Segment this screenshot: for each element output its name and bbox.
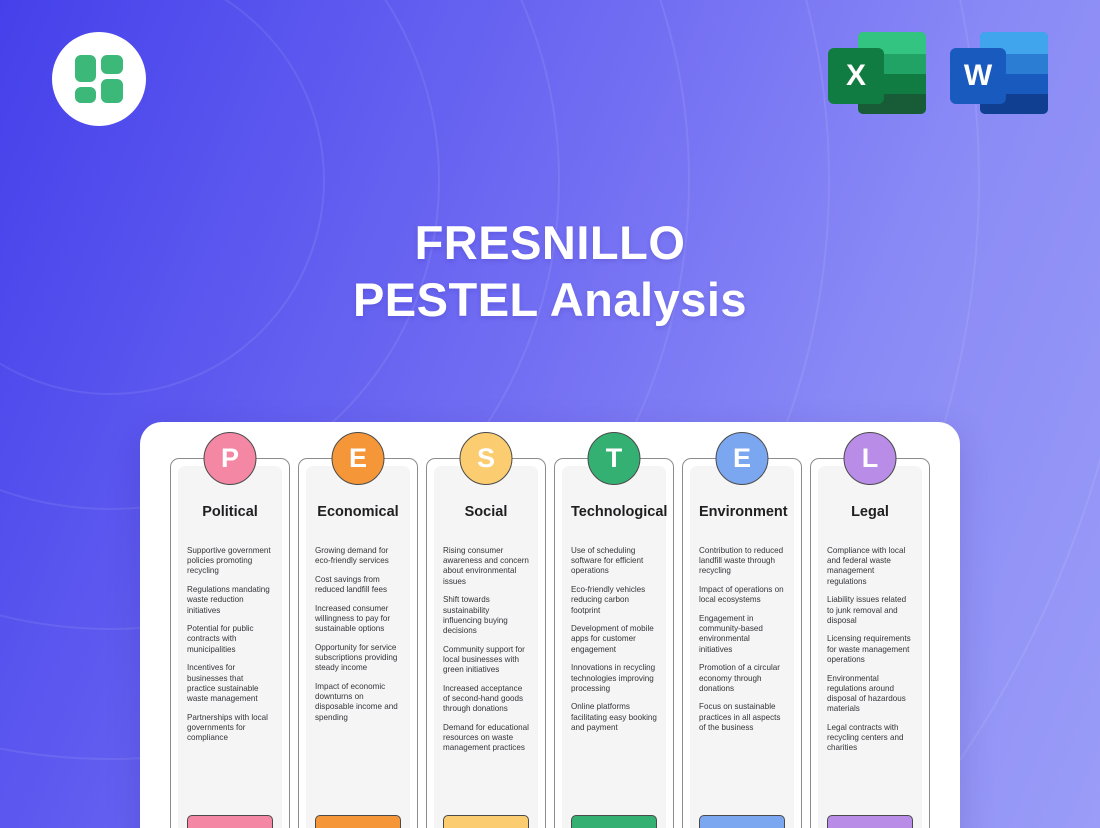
list-item: Promotion of a circular economy through …	[699, 663, 785, 694]
list-item: Innovations in recycling technologies im…	[571, 663, 657, 694]
list-item: Increased acceptance of second-hand good…	[443, 684, 529, 715]
list-item: Opportunity for service subscriptions pr…	[315, 643, 401, 674]
pestel-card: PPoliticalSupportive government policies…	[140, 422, 960, 828]
column-body-environment: EnvironmentContribution to reduced landf…	[690, 466, 794, 828]
column-title-technological: Technological	[571, 504, 657, 520]
letter-badge-environment: E	[716, 432, 769, 485]
list-item: Cost savings from reduced landfill fees	[315, 575, 401, 595]
column-title-political: Political	[187, 504, 273, 520]
list-item: Compliance with local and federal waste …	[827, 546, 913, 587]
pestel-columns: PPoliticalSupportive government policies…	[170, 422, 930, 828]
excel-icon[interactable]: X	[828, 28, 926, 118]
column-items-political: Supportive government policies promoting…	[187, 546, 273, 815]
pestel-column-social[interactable]: SSocialRising consumer awareness and con…	[426, 458, 546, 828]
list-item: Eco-friendly vehicles reducing carbon fo…	[571, 585, 657, 616]
poster-canvas: X W FRESNILLO PESTEL Analysis PPolitical…	[0, 0, 1100, 828]
list-item: Online platforms facilitating easy booki…	[571, 702, 657, 733]
word-badge-letter: W	[950, 48, 1006, 104]
page-title: FRESNILLO PESTEL Analysis	[0, 214, 1100, 329]
column-color-bar-environment	[699, 815, 785, 828]
column-title-environment: Environment	[699, 504, 785, 520]
list-item: Development of mobile apps for customer …	[571, 624, 657, 655]
pestel-column-technological[interactable]: TTechnologicalUse of scheduling software…	[554, 458, 674, 828]
column-title-economical: Economical	[315, 504, 401, 520]
column-title-legal: Legal	[827, 504, 913, 520]
list-item: Engagement in community-based environmen…	[699, 614, 785, 655]
excel-badge-letter: X	[828, 48, 884, 104]
list-item: Community support for local businesses w…	[443, 645, 529, 676]
list-item: Impact of economic downturns on disposab…	[315, 682, 401, 723]
list-item: Licensing requirements for waste managem…	[827, 634, 913, 665]
list-item: Liability issues related to junk removal…	[827, 595, 913, 626]
column-items-technological: Use of scheduling software for efficient…	[571, 546, 657, 815]
list-item: Legal contracts with recycling centers a…	[827, 723, 913, 754]
brand-logo[interactable]	[52, 32, 146, 126]
column-body-political: PoliticalSupportive government policies …	[178, 466, 282, 828]
column-body-social: SocialRising consumer awareness and conc…	[434, 466, 538, 828]
letter-badge-legal: L	[844, 432, 897, 485]
column-color-bar-technological	[571, 815, 657, 828]
pestel-column-environment[interactable]: EEnvironmentContribution to reduced land…	[682, 458, 802, 828]
list-item: Focus on sustainable practices in all as…	[699, 702, 785, 733]
list-item: Demand for educational resources on wast…	[443, 723, 529, 754]
letter-badge-technological: T	[588, 432, 641, 485]
column-color-bar-political	[187, 815, 273, 828]
column-body-technological: TechnologicalUse of scheduling software …	[562, 466, 666, 828]
letter-badge-social: S	[460, 432, 513, 485]
list-item: Use of scheduling software for efficient…	[571, 546, 657, 577]
list-item: Increased consumer willingness to pay fo…	[315, 604, 401, 635]
title-company: FRESNILLO	[0, 214, 1100, 271]
grid-squares-logo-icon	[73, 53, 125, 105]
list-item: Supportive government policies promoting…	[187, 546, 273, 577]
list-item: Environmental regulations around disposa…	[827, 674, 913, 715]
column-color-bar-legal	[827, 815, 913, 828]
list-item: Incentives for businesses that practice …	[187, 663, 273, 704]
ring-1	[0, 0, 325, 395]
letter-badge-economical: E	[332, 432, 385, 485]
column-items-social: Rising consumer awareness and concern ab…	[443, 546, 529, 815]
column-items-legal: Compliance with local and federal waste …	[827, 546, 913, 815]
column-items-environment: Contribution to reduced landfill waste t…	[699, 546, 785, 815]
word-icon[interactable]: W	[950, 28, 1048, 118]
column-color-bar-social	[443, 815, 529, 828]
column-body-economical: EconomicalGrowing demand for eco-friendl…	[306, 466, 410, 828]
title-subject: PESTEL Analysis	[0, 271, 1100, 328]
list-item: Potential for public contracts with muni…	[187, 624, 273, 655]
column-body-legal: LegalCompliance with local and federal w…	[818, 466, 922, 828]
letter-badge-political: P	[204, 432, 257, 485]
pestel-column-economical[interactable]: EEconomicalGrowing demand for eco-friend…	[298, 458, 418, 828]
pestel-column-legal[interactable]: LLegalCompliance with local and federal …	[810, 458, 930, 828]
list-item: Impact of operations on local ecosystems	[699, 585, 785, 605]
column-title-social: Social	[443, 504, 529, 520]
list-item: Shift towards sustainability influencing…	[443, 595, 529, 636]
list-item: Rising consumer awareness and concern ab…	[443, 546, 529, 587]
list-item: Contribution to reduced landfill waste t…	[699, 546, 785, 577]
list-item: Growing demand for eco-friendly services	[315, 546, 401, 566]
export-icons: X W	[828, 28, 1048, 118]
pestel-column-political[interactable]: PPoliticalSupportive government policies…	[170, 458, 290, 828]
list-item: Partnerships with local governments for …	[187, 713, 273, 744]
list-item: Regulations mandating waste reduction in…	[187, 585, 273, 616]
column-color-bar-economical	[315, 815, 401, 828]
column-items-economical: Growing demand for eco-friendly services…	[315, 546, 401, 815]
